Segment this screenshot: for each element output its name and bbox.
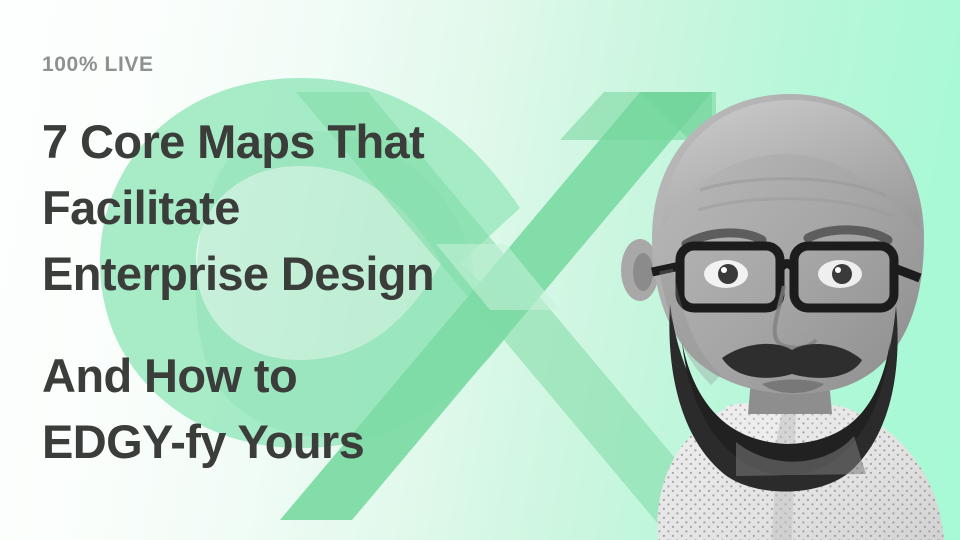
- live-badge: 100% LIVE: [42, 54, 562, 75]
- subhead-line-1: And How to: [42, 343, 562, 409]
- webinar-title-slide: 100% LIVE 7 Core Maps That Facilitate En…: [0, 0, 960, 540]
- page-subtitle: And How to EDGY-fy Yours: [42, 343, 562, 475]
- eye-right-iris: [832, 264, 852, 284]
- headline-line-1: 7 Core Maps That: [42, 109, 562, 175]
- speaker-portrait: [540, 70, 960, 540]
- eye-right-highlight: [835, 267, 841, 273]
- eye-left-iris: [718, 264, 738, 284]
- headline-line-3: Enterprise Design: [42, 241, 562, 307]
- ear-left-inner: [633, 253, 653, 291]
- subhead-line-2: EDGY-fy Yours: [42, 409, 562, 475]
- eye-left-highlight: [721, 267, 727, 273]
- headline-line-2: Facilitate: [42, 175, 562, 241]
- title-copy-block: 100% LIVE 7 Core Maps That Facilitate En…: [42, 54, 562, 475]
- page-title: 7 Core Maps That Facilitate Enterprise D…: [42, 109, 562, 307]
